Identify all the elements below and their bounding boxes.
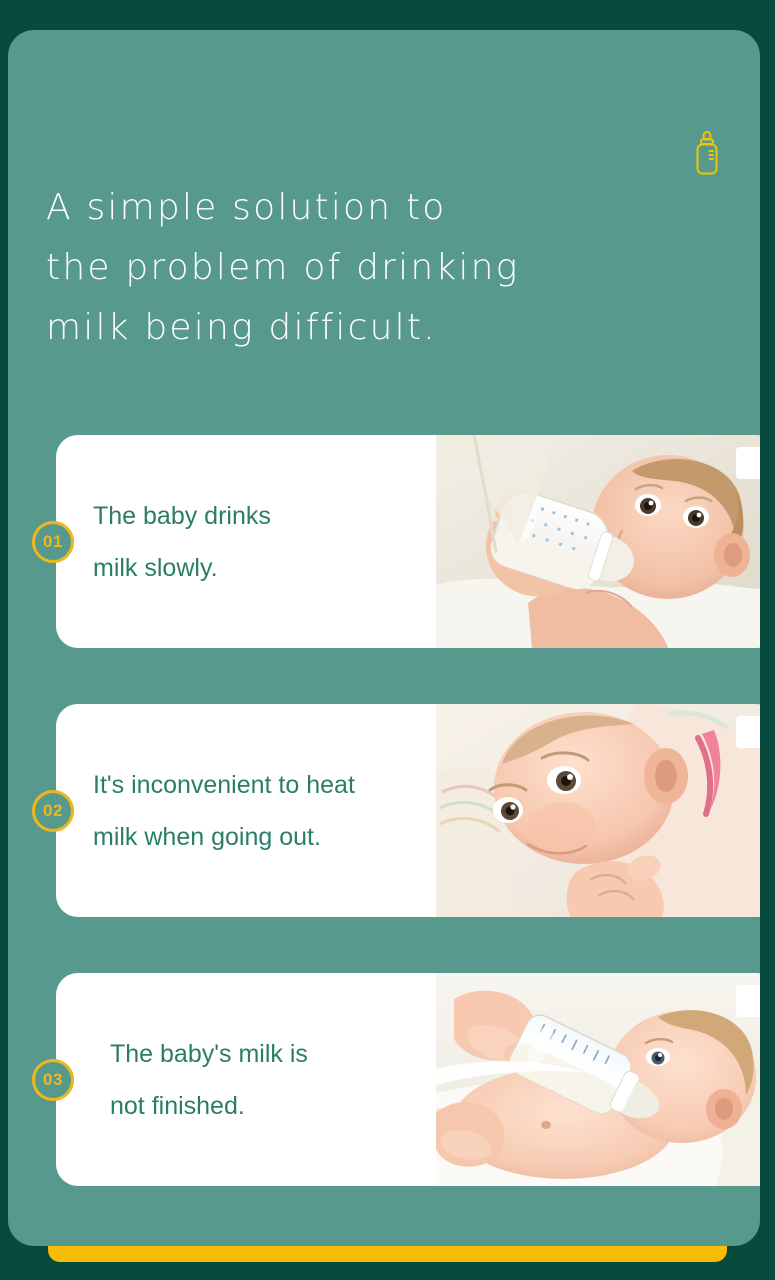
card-photo-changing-table-feeding bbox=[436, 973, 760, 1186]
card-corner-marker bbox=[736, 447, 760, 479]
card-label: The baby's milk is not finished. bbox=[56, 1028, 436, 1132]
card-number-badge: 03 bbox=[32, 1059, 74, 1101]
card-list: 01 The baby drinks milk slowly. bbox=[8, 435, 760, 1242]
card-item-03[interactable]: 03 The baby's milk is not finished. bbox=[56, 973, 730, 1186]
card-photo-nursing-baby bbox=[436, 704, 760, 917]
card-text-area: The baby's milk is not finished. bbox=[56, 973, 436, 1186]
card-number-badge: 02 bbox=[32, 790, 74, 832]
card-item-01[interactable]: 01 The baby drinks milk slowly. bbox=[56, 435, 730, 648]
card-label: The baby drinks milk slowly. bbox=[56, 490, 436, 594]
main-panel: A simple solution to the problem of drin… bbox=[8, 30, 760, 1246]
card-text-area: It's inconvenient to heat milk when goin… bbox=[56, 704, 436, 917]
card-text-area: The baby drinks milk slowly. bbox=[56, 435, 436, 648]
baby-bottle-icon bbox=[690, 130, 724, 176]
page-title: A simple solution to the problem of drin… bbox=[46, 178, 686, 358]
card-corner-marker bbox=[736, 716, 760, 748]
card-corner-marker bbox=[736, 985, 760, 1017]
card-number-badge: 01 bbox=[32, 521, 74, 563]
card-item-02[interactable]: 02 It's inconvenient to heat milk when g… bbox=[56, 704, 730, 917]
card-label: It's inconvenient to heat milk when goin… bbox=[56, 759, 436, 863]
card-photo-bottle-feeding bbox=[436, 435, 760, 648]
